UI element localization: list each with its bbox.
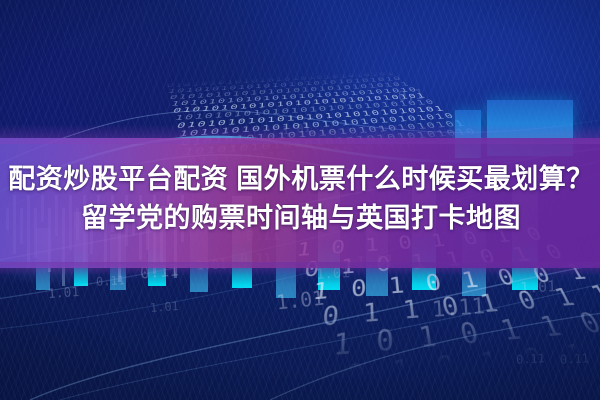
title-line-1: 配资炒股平台配资 国外机票什么时候买最划算？ — [0, 160, 600, 199]
banner-title: 配资炒股平台配资 国外机票什么时候买最划算？ 留学党的购票时间轴与英国打卡地图 — [0, 160, 600, 238]
article-banner: 0101010101010101010101010101101010101010… — [0, 0, 600, 400]
title-line-2: 留学党的购票时间轴与英国打卡地图 — [0, 199, 600, 238]
